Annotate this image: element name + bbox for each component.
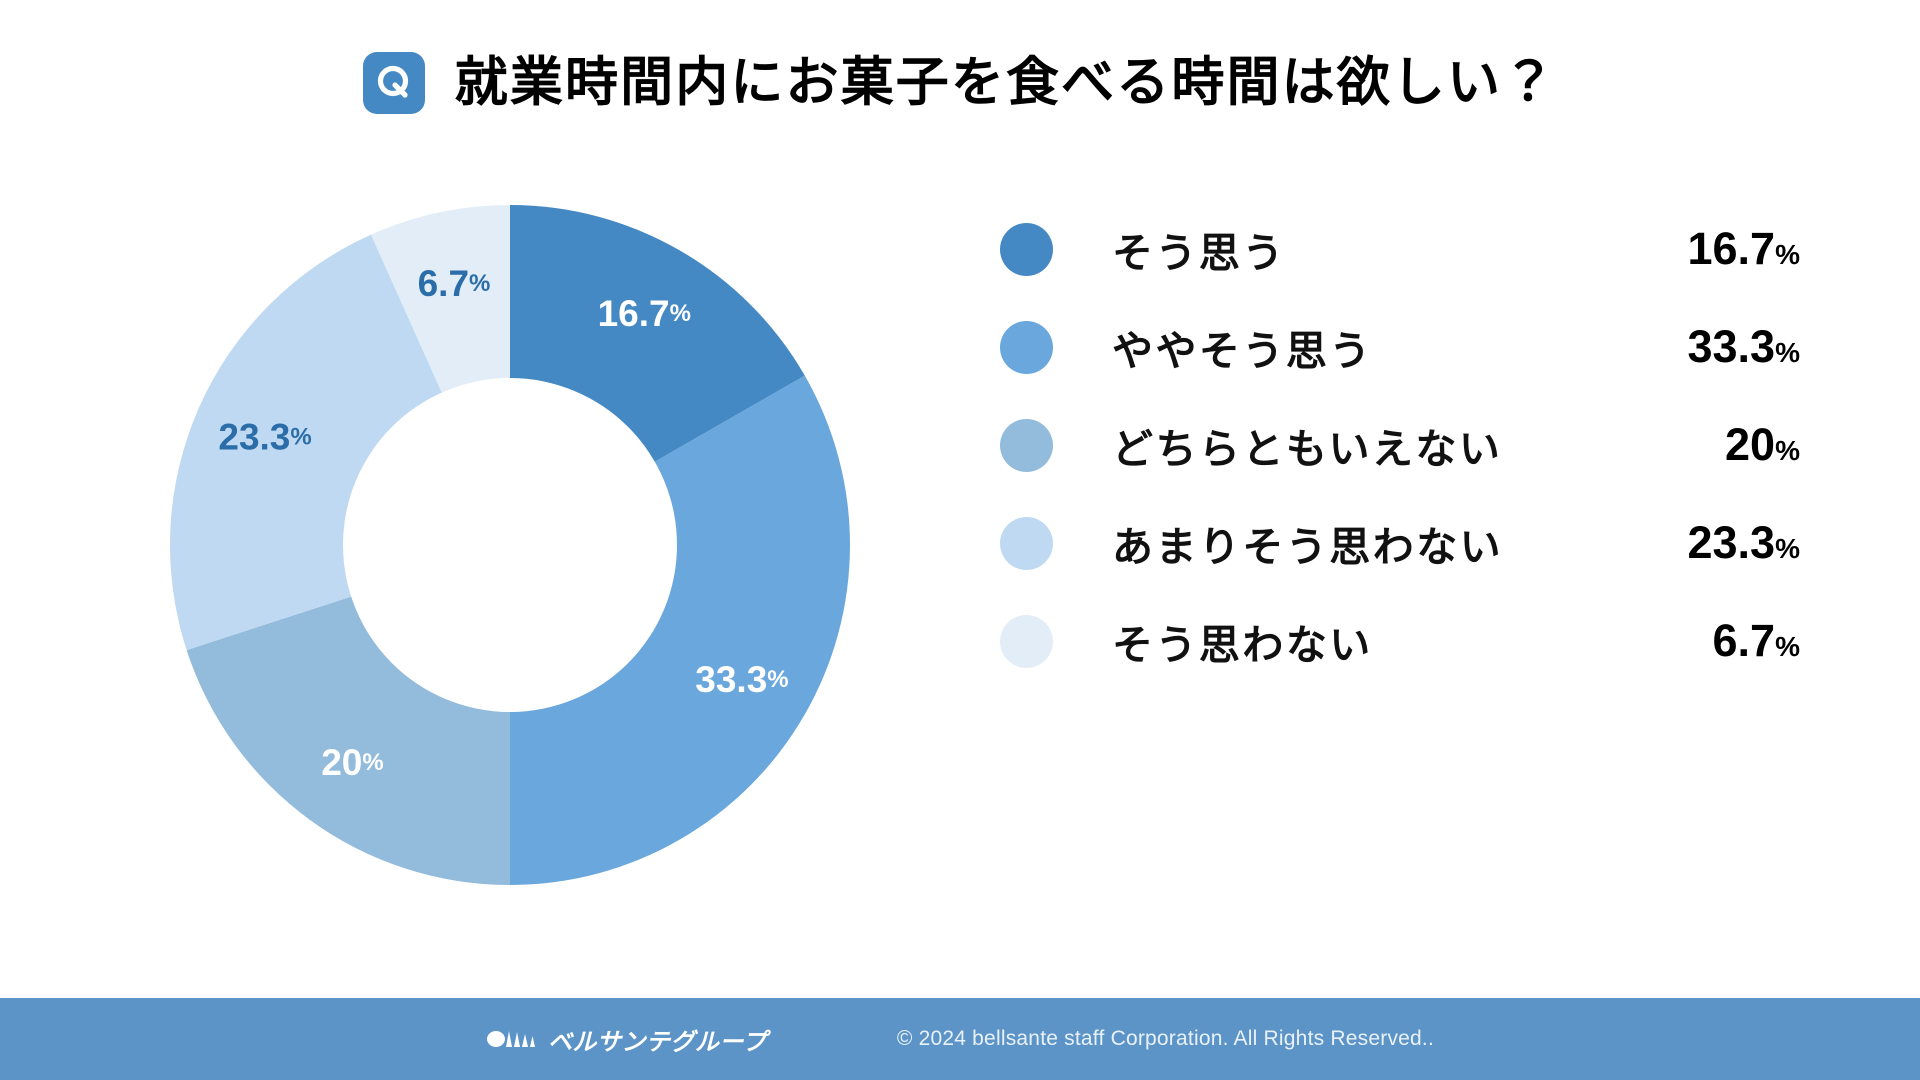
legend-item[interactable]: どちらともいえない20% bbox=[1000, 396, 1800, 494]
legend-color-swatch-icon bbox=[1000, 419, 1053, 472]
question-mark-q-icon bbox=[363, 52, 425, 114]
legend-item-percent-sign: % bbox=[1775, 239, 1800, 270]
legend-color-swatch-icon bbox=[1000, 517, 1053, 570]
legend: そう思う16.7%ややそう思う33.3%どちらともいえない20%あまりそう思わな… bbox=[1000, 200, 1800, 690]
footer-copyright: © 2024 bellsante staff Corporation. All … bbox=[897, 1027, 1434, 1051]
legend-item-number: 33.3 bbox=[1688, 321, 1776, 372]
donut-chart: 16.7%33.3%20%23.3%6.7% bbox=[170, 205, 850, 885]
legend-item-number: 20 bbox=[1725, 419, 1775, 470]
legend-color-swatch-icon bbox=[1000, 615, 1053, 668]
legend-color-swatch-icon bbox=[1000, 223, 1053, 276]
legend-item-number: 6.7 bbox=[1713, 615, 1776, 666]
legend-item-value: 6.7% bbox=[1610, 615, 1800, 667]
legend-item-label: そう思わない bbox=[1112, 611, 1610, 671]
legend-item-label: どちらともいえない bbox=[1112, 415, 1610, 475]
legend-item-label: あまりそう思わない bbox=[1112, 513, 1610, 573]
legend-item-percent-sign: % bbox=[1775, 337, 1800, 368]
donut-chart-svg: 16.7%33.3%20%23.3%6.7% bbox=[170, 205, 850, 885]
bellsante-group-logo-icon: ベルサンテグループ bbox=[486, 1022, 767, 1057]
legend-item-number: 16.7 bbox=[1688, 223, 1776, 274]
legend-item-label: そう思う bbox=[1112, 219, 1610, 279]
legend-item-value: 23.3% bbox=[1610, 517, 1800, 569]
donut-hole bbox=[343, 378, 677, 712]
slide-canvas: 就業時間内にお菓子を食べる時間は欲しい？ 16.7%33.3%20%23.3%6… bbox=[0, 0, 1920, 1080]
legend-item[interactable]: ややそう思う33.3% bbox=[1000, 298, 1800, 396]
legend-item[interactable]: そう思わない6.7% bbox=[1000, 592, 1800, 690]
legend-item[interactable]: あまりそう思わない23.3% bbox=[1000, 494, 1800, 592]
legend-item[interactable]: そう思う16.7% bbox=[1000, 200, 1800, 298]
legend-item-percent-sign: % bbox=[1775, 533, 1800, 564]
footer-logo-text: ベルサンテグループ bbox=[548, 1022, 767, 1057]
page-header: 就業時間内にお菓子を食べる時間は欲しい？ bbox=[0, 52, 1920, 114]
legend-color-swatch-icon bbox=[1000, 321, 1053, 374]
legend-item-number: 23.3 bbox=[1688, 517, 1776, 568]
legend-item-value: 20% bbox=[1610, 419, 1800, 471]
footer-bar: ベルサンテグループ © 2024 bellsante staff Corpora… bbox=[0, 998, 1920, 1080]
legend-item-percent-sign: % bbox=[1775, 435, 1800, 466]
page-title: 就業時間内にお菓子を食べる時間は欲しい？ bbox=[455, 54, 1557, 112]
legend-item-value: 33.3% bbox=[1610, 321, 1800, 373]
legend-item-value: 16.7% bbox=[1610, 223, 1800, 275]
legend-item-label: ややそう思う bbox=[1112, 317, 1610, 377]
legend-item-percent-sign: % bbox=[1775, 631, 1800, 662]
